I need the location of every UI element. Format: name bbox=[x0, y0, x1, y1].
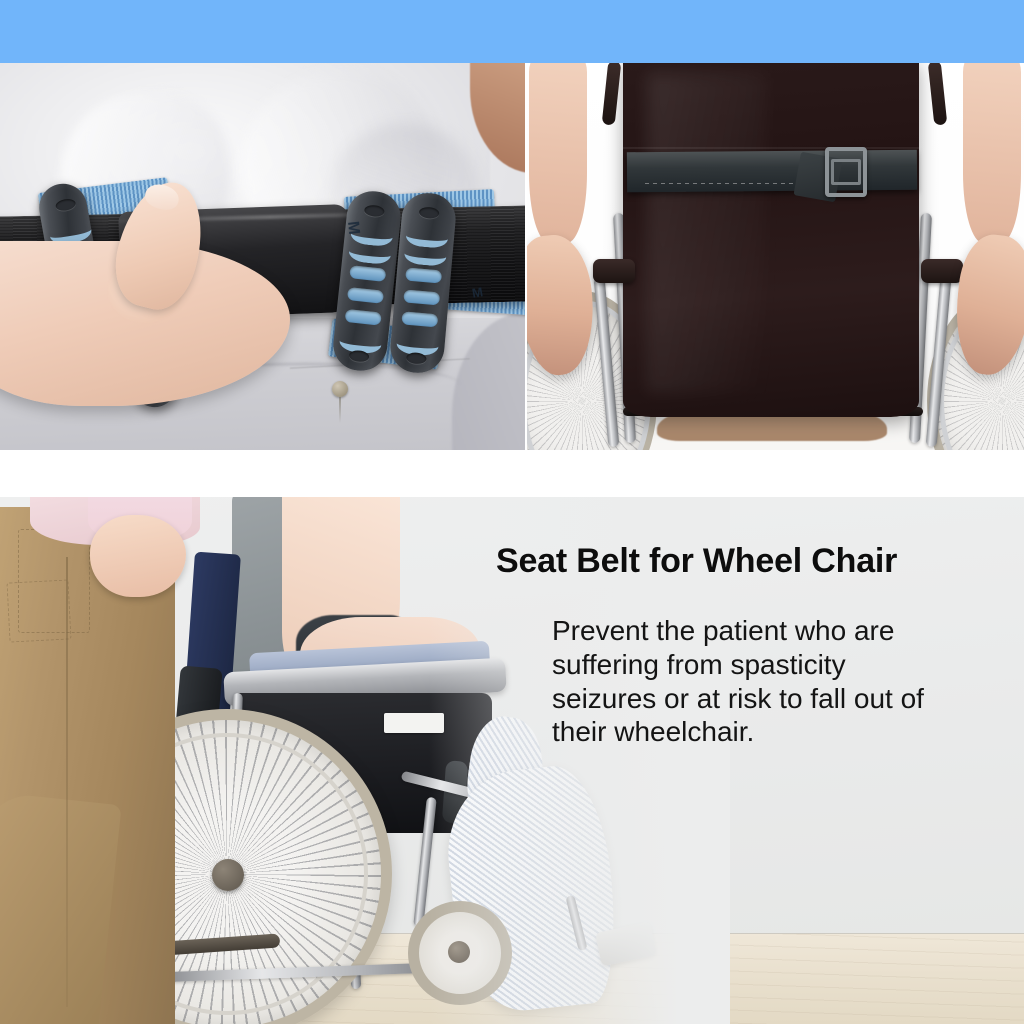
caregiver-arm bbox=[963, 63, 1021, 243]
webbing-logo-mark: M bbox=[343, 220, 362, 235]
body-line: their wheelchair. bbox=[552, 715, 982, 749]
armrest-pad bbox=[593, 259, 635, 283]
photo-belt-on-waist: M M M bbox=[0, 63, 525, 450]
trouser-button bbox=[332, 381, 348, 397]
backrest-seam bbox=[623, 147, 919, 149]
headline: Seat Belt for Wheel Chair bbox=[496, 543, 996, 580]
photo-wheelchair-back-strap bbox=[527, 63, 1024, 450]
body-copy: Prevent the patient who are suffering fr… bbox=[552, 614, 982, 748]
push-handle bbox=[928, 63, 948, 126]
marketing-copy: Seat Belt for Wheel Chair Prevent the pa… bbox=[496, 543, 996, 749]
section-gap bbox=[0, 450, 1024, 497]
product-infographic: M M M bbox=[0, 0, 1024, 1024]
top-photo-row: M M M bbox=[0, 63, 1024, 450]
backrest-sheen bbox=[647, 73, 767, 393]
caster-hub bbox=[448, 941, 470, 963]
safety-strap bbox=[627, 150, 917, 193]
bottom-section: Seat Belt for Wheel Chair Prevent the pa… bbox=[0, 497, 1024, 1024]
strap-stitching bbox=[645, 183, 805, 184]
strap-buckle-bar bbox=[831, 159, 861, 185]
caregiver-hand bbox=[90, 515, 186, 597]
body-line: seizures or at risk to fall out of bbox=[552, 682, 982, 716]
trouser-pocket bbox=[6, 579, 71, 642]
webbing-logo-mark: M bbox=[471, 284, 484, 301]
wheel-hub bbox=[212, 859, 244, 891]
body-line: suffering from spasticity bbox=[552, 648, 982, 682]
body-line: Prevent the patient who are bbox=[552, 614, 982, 648]
top-blue-banner bbox=[0, 0, 1024, 63]
product-label-tag bbox=[384, 713, 444, 733]
push-handle bbox=[602, 63, 622, 126]
armrest-pad bbox=[921, 259, 963, 283]
button-thread bbox=[339, 397, 341, 423]
caregiver-arm bbox=[529, 63, 587, 243]
panel-divider bbox=[525, 63, 527, 450]
